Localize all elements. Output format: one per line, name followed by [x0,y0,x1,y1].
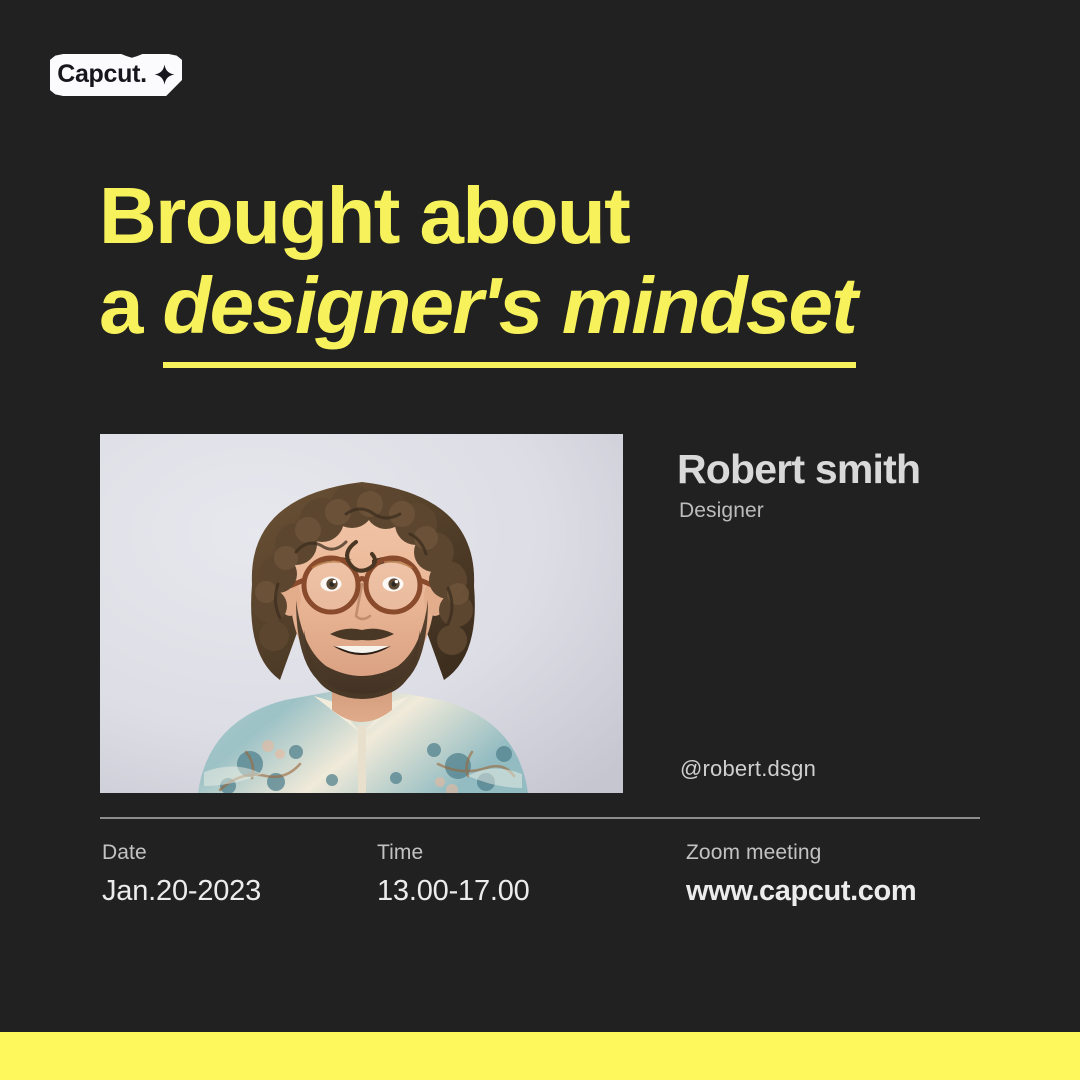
four-point-star-icon [154,64,175,85]
page-title: Brought about a designer's mindset [99,171,999,352]
horizontal-divider [100,817,980,819]
bottom-accent-bar [0,1032,1080,1080]
capcut-logo-badge[interactable]: Capcut. [50,54,182,96]
event-poster: Capcut. Brought about a designer's minds… [0,0,1080,1080]
headline-line-2-prefix: a [99,261,163,350]
capcut-logo-text: Capcut. [57,62,147,87]
info-label-time: Time [377,842,530,863]
info-label-zoom-meeting: Zoom meeting [686,842,916,863]
speaker-role: Designer [679,499,764,523]
info-value-time: 13.00-17.00 [377,877,530,906]
speaker-photo [100,434,623,793]
headline-line-2: a designer's mindset [99,261,999,351]
info-column-time: Time 13.00-17.00 [377,842,530,906]
info-value-date: Jan.20-2023 [102,877,261,906]
speaker-handle[interactable]: @robert.dsgn [680,756,816,782]
info-label-date: Date [102,842,261,863]
event-info-row: Date Jan.20-2023 Time 13.00-17.00 Zoom m… [102,842,992,912]
info-column-date: Date Jan.20-2023 [102,842,261,906]
headline-line-1: Brought about [99,171,999,261]
info-value-zoom-meeting[interactable]: www.capcut.com [686,877,916,906]
headline-emphasis: designer's mindset [163,261,857,368]
speaker-portrait-image [100,434,623,793]
speaker-name: Robert smith [677,447,920,492]
info-column-zoom-meeting: Zoom meeting www.capcut.com [686,842,916,906]
